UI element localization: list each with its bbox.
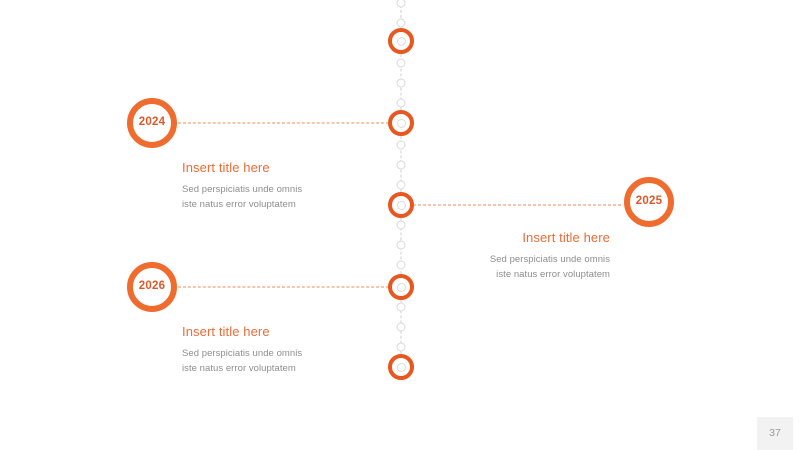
timeline-node-2025[interactable]	[388, 192, 414, 218]
axis-dot	[397, 323, 406, 332]
axis-dot	[397, 99, 406, 108]
year-circle-2026[interactable]: 2026	[127, 262, 177, 312]
text-block-2024: Insert title here Sed perspiciatis unde …	[182, 160, 382, 213]
text-block-2025: Insert title here Sed perspiciatis unde …	[410, 230, 610, 283]
axis-dot	[397, 161, 406, 170]
year-circle-2024[interactable]: 2024	[127, 98, 177, 148]
milestone-body-line2-2025: iste natus error voluptatem	[410, 268, 610, 283]
axis-segment	[401, 300, 402, 354]
axis-dot	[397, 241, 406, 250]
milestone-title-2024: Insert title here	[182, 160, 382, 176]
axis-dot	[397, 343, 406, 352]
page-number-text: 37	[769, 428, 781, 439]
timeline-node-2024[interactable]	[388, 110, 414, 136]
milestone-title-2025: Insert title here	[410, 230, 610, 246]
axis-dot	[397, 0, 406, 8]
axis-dot	[397, 221, 406, 230]
timeline-node-top[interactable]	[388, 28, 414, 54]
axis-dot	[397, 19, 406, 28]
axis-dot	[397, 59, 406, 68]
axis-segment	[401, 0, 402, 28]
page-number-badge: 37	[757, 417, 793, 450]
milestone-title-2026: Insert title here	[182, 324, 382, 340]
milestone-body-line1-2025: Sed perspiciatis unde omnis	[410, 253, 610, 268]
year-circle-2025[interactable]: 2025	[624, 177, 674, 227]
connector-line-2026	[178, 287, 389, 288]
axis-segment	[401, 136, 402, 192]
axis-dot	[397, 303, 406, 312]
milestone-body-line2-2026: iste natus error voluptatem	[182, 362, 382, 377]
connector-line-2024	[178, 123, 389, 124]
year-label-2026: 2026	[139, 281, 165, 293]
timeline-node-bottom[interactable]	[388, 354, 414, 380]
timeline-axis	[0, 0, 800, 450]
axis-dot	[397, 261, 406, 270]
connector-line-2025	[413, 205, 621, 206]
milestone-body-line2-2024: iste natus error voluptatem	[182, 198, 382, 213]
axis-dot	[397, 181, 406, 190]
slide-canvas: 2024 2025 2026 Insert title here Sed per…	[0, 0, 800, 450]
axis-dot	[397, 79, 406, 88]
axis-segment	[401, 54, 402, 110]
year-label-2024: 2024	[139, 117, 165, 129]
milestone-body-line1-2026: Sed perspiciatis unde omnis	[182, 347, 382, 362]
year-label-2025: 2025	[636, 196, 662, 208]
milestone-body-line1-2024: Sed perspiciatis unde omnis	[182, 183, 382, 198]
axis-segment	[401, 218, 402, 274]
text-block-2026: Insert title here Sed perspiciatis unde …	[182, 324, 382, 377]
axis-dot	[397, 141, 406, 150]
